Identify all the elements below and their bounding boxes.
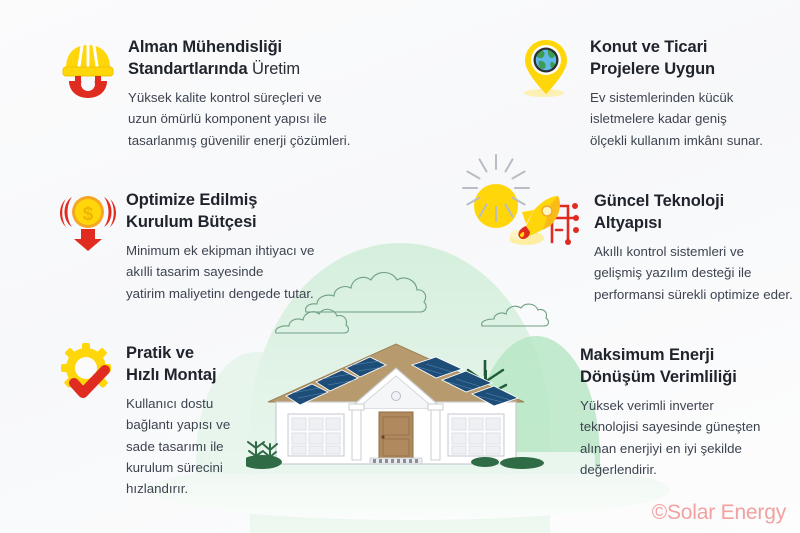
coin-down-arrow-icon: $ — [58, 189, 118, 251]
infographic-canvas: Alman Mühendisliği Standartlarında Üreti… — [0, 0, 800, 533]
svg-text:$: $ — [83, 204, 94, 225]
feature-description: Minimum ek ekipman ihtiyacı ve akılli ta… — [126, 240, 314, 304]
gear-checkmark-icon — [58, 342, 118, 404]
feature-description: Yüksek verimli inverter teknolojisi saye… — [580, 395, 760, 480]
feature-description: Yüksek kalite kontrol süreçleri ve uzun … — [128, 87, 350, 151]
rocket-circuit-icon — [510, 190, 582, 252]
feature-title: Güncel Teknoloji Altyapısı — [594, 190, 793, 234]
feature-title: Konut ve Ticari Projelere Uygun — [590, 36, 763, 80]
feature-description: Akıllı kontrol sistemleri ve gelişmiş ya… — [594, 241, 793, 305]
feature-guncel-teknoloji-altyapisi: Güncel Teknoloji Altyapısı Akıllı kontro… — [510, 190, 800, 305]
hard-hat-gear-icon — [58, 36, 118, 98]
feature-alman-muhendisligi: Alman Mühendisliği Standartlarında Üreti… — [58, 36, 388, 151]
feature-description: Ev sistemlerinden kücük isletmelere kada… — [590, 87, 763, 151]
tree-illustration — [465, 360, 506, 462]
cloud-outline-icon — [272, 305, 350, 337]
feature-konut-ve-ticari-projelere-uygun: Konut ve Ticari Projelere Uygun Ev siste… — [518, 36, 796, 151]
watermark-text: ©Solar Energy — [652, 501, 786, 525]
feature-title: Optimize Edilmiş Kurulum Bütçesi — [126, 189, 314, 233]
feature-title: Alman Mühendisliği Standartlarında Üreti… — [128, 36, 350, 80]
feature-pratik-ve-hizli-montaj: Pratik ve Hızlı Montaj Kullanıcı dostu b… — [58, 342, 298, 500]
bush-illustration — [500, 457, 544, 469]
feature-description: Kullanıcı dostu bağlantı yapısı ve sade … — [126, 393, 230, 499]
map-pin-globe-icon — [518, 36, 578, 98]
feature-title: Maksimum Enerji Dönüşüm Verimliliği — [580, 344, 760, 388]
feature-title: Pratik ve Hızlı Montaj — [126, 342, 230, 386]
feature-maksimum-enerji-donusum-verimliligi: Maksimum Enerji Dönüşüm Verimliliği Yüks… — [580, 344, 798, 480]
feature-optimize-edilmis-kurulum-butcesi: $ Optimize Edilmiş Kurulum Bütçesi Minim… — [58, 189, 378, 304]
